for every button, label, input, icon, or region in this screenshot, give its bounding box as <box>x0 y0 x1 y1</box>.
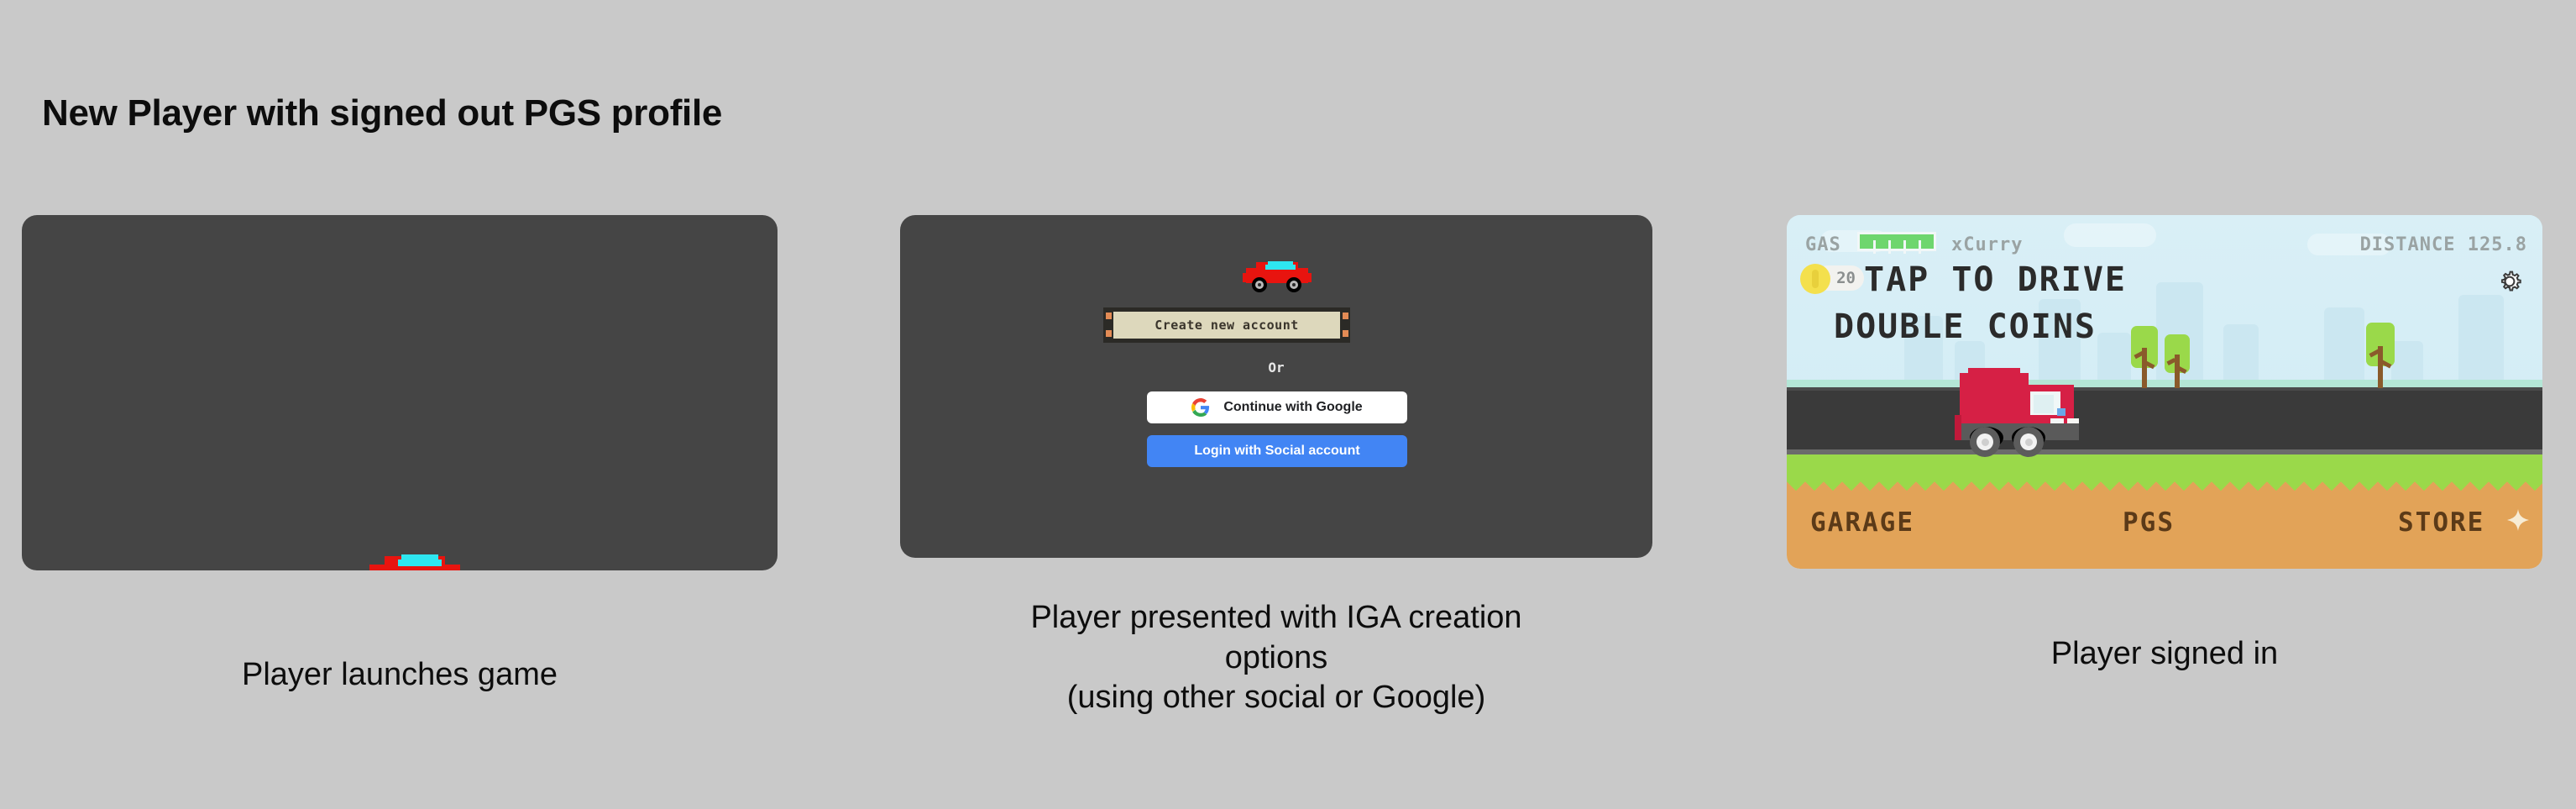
distance-readout: DISTANCE 125.8 <box>2360 234 2527 255</box>
grass <box>1787 454 2542 480</box>
caption-panel-3: Player signed in <box>1787 634 2542 675</box>
create-new-account-button[interactable]: Create new account <box>1113 307 1340 343</box>
tree <box>2163 334 2191 388</box>
nav-item-garage[interactable]: GARAGE <box>1810 507 1914 538</box>
login-with-social-account-button[interactable]: Login with Social account <box>1147 435 1407 467</box>
panel-player-launches-game: Trivial Kart <box>22 215 778 570</box>
pixel-car-icon <box>364 551 465 570</box>
page-title: New Player with signed out PGS profile <box>42 92 722 134</box>
double-coins-label: DOUBLE COINS <box>1834 307 2097 346</box>
coin-badge: 20 <box>1800 264 1864 292</box>
gas-bar <box>1857 232 1936 251</box>
screenshot-root: New Player with signed out PGS profile T… <box>0 0 2576 809</box>
nav-item-store[interactable]: STORE <box>2398 507 2484 538</box>
google-g-icon <box>1191 398 1210 417</box>
nav-item-pgs[interactable]: PGS <box>2123 507 2175 538</box>
caption-panel-1: Player launches game <box>22 655 778 696</box>
caption-line-2: options <box>900 638 1652 679</box>
tree <box>2364 323 2396 388</box>
road <box>1787 391 2542 449</box>
continue-with-google-label: Continue with Google <box>1223 400 1362 415</box>
grass-dirt-zigzag <box>1787 477 2542 496</box>
gas-label: GAS <box>1805 234 1841 255</box>
continue-with-google-button[interactable]: Continue with Google <box>1147 391 1407 423</box>
caption-line-1: Player presented with IGA creation <box>900 598 1652 638</box>
player-vehicle-truck <box>1951 366 2091 459</box>
tap-to-drive-label: TAP TO DRIVE <box>1864 260 2127 299</box>
caption-line-3: (using other social or Google) <box>900 678 1652 718</box>
or-separator-label: Or <box>900 360 1652 376</box>
coin-icon <box>1800 264 1830 294</box>
pixel-button-left-bolt <box>1103 307 1113 343</box>
player-username: xCurry <box>1951 234 2023 255</box>
gear-icon[interactable] <box>2495 267 2524 296</box>
cloud <box>2064 223 2156 247</box>
pixel-button-right-bolt <box>1340 307 1350 343</box>
panel-iga-creation-options: Create new account Or Continue with Goog… <box>900 215 1652 558</box>
sparkle-icon <box>2507 509 2529 531</box>
panel-player-signed-in: GAS xCurry DISTANCE 125.8 20 TAP TO DRIV… <box>1787 215 2542 569</box>
pixel-car-icon <box>1243 259 1312 292</box>
caption-panel-2: Player presented with IGA creation optio… <box>900 598 1652 718</box>
tree <box>2129 326 2160 388</box>
